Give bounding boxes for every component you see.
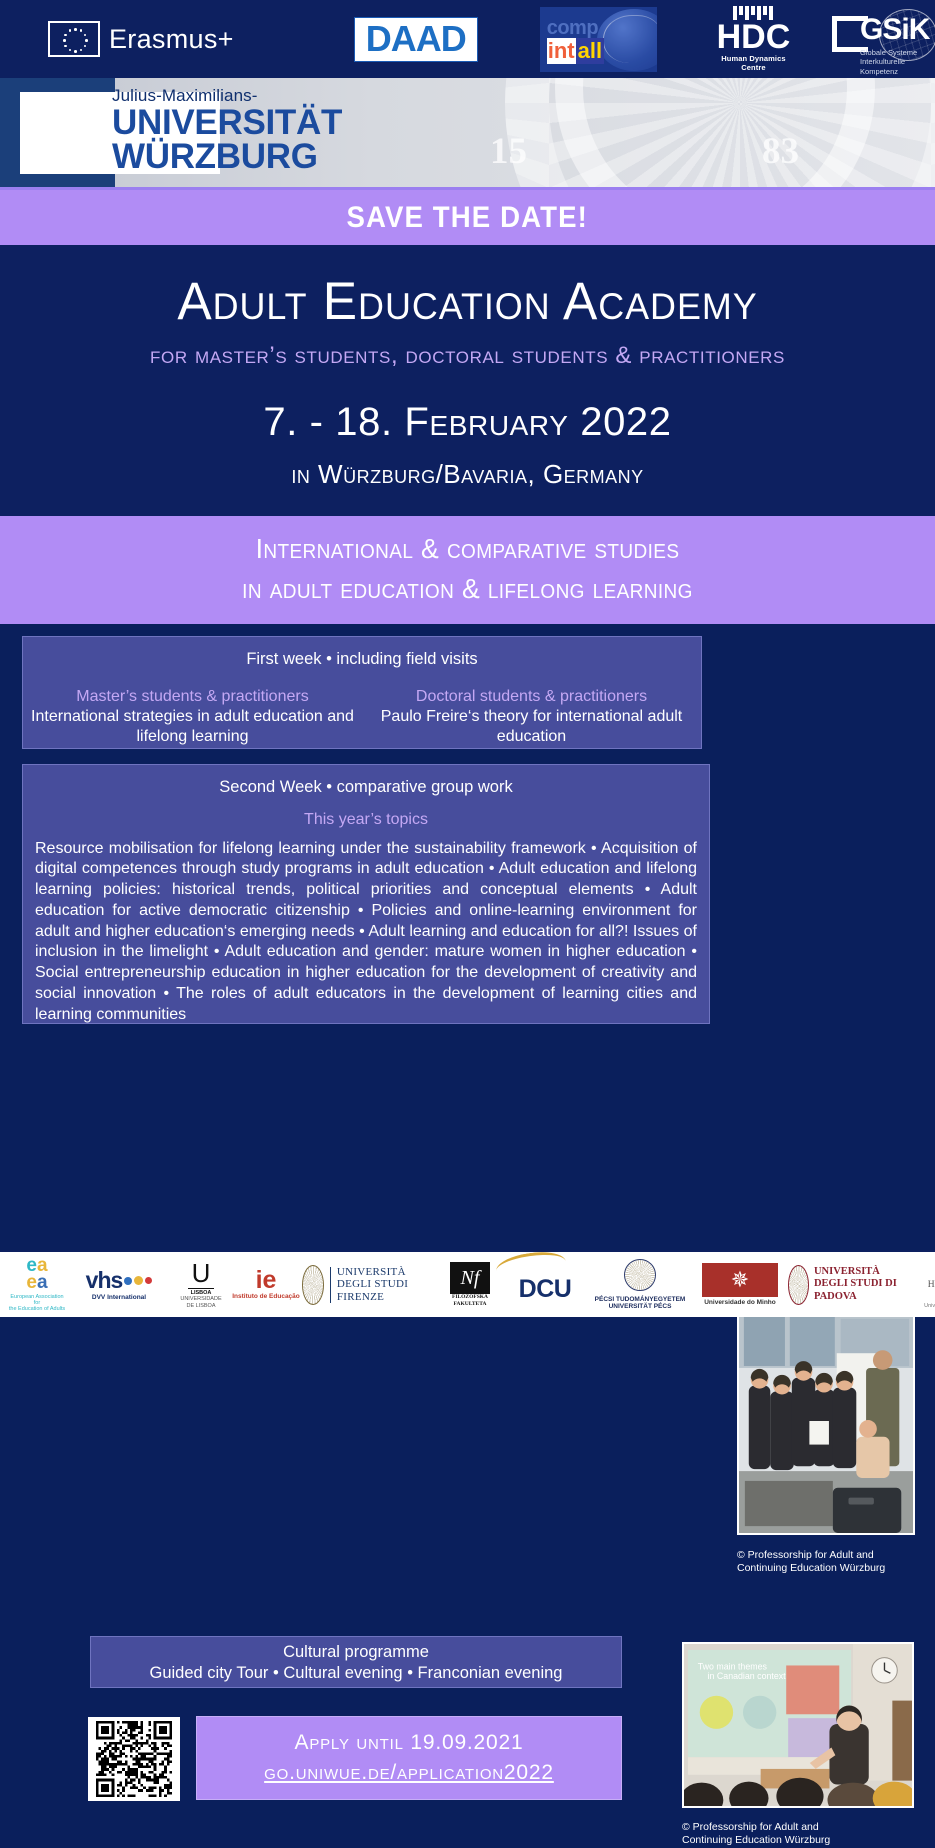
event-date: 7. - 18. February 2022 bbox=[0, 400, 935, 445]
qr-code[interactable] bbox=[88, 1717, 180, 1801]
caption1-line2: Continuing Education Würzburg bbox=[737, 1562, 927, 1576]
hdc-label: HDC bbox=[711, 21, 796, 53]
pecs-label: PÉCSI TUDOMÁNYEGYETEM UNIVERSITÄT PÉCS bbox=[588, 1296, 692, 1311]
universita-firenze-logo: UNIVERSITÀ DEGLI STUDI FIRENZE bbox=[302, 1265, 438, 1305]
partner-logo-footer: ea ea European Association forthe Educat… bbox=[0, 1250, 935, 1317]
university-logo-band: 15 83 Julius-Maximilians- UNIVERSITÄT WÜ… bbox=[0, 78, 935, 190]
universidade-do-minho-logo: ✵ Universidade do Minho bbox=[692, 1263, 788, 1306]
doctoral-topic: Paulo Freire‘s theory for international … bbox=[362, 707, 701, 747]
universidade-lisboa-logo: U LISBOA UNIVERSIDADEDE LISBOA bbox=[172, 1260, 230, 1308]
photo-group-workshop-caption: © Professorship for Adult and Continuing… bbox=[737, 1549, 927, 1576]
padova-label: UNIVERSITÀ DEGLI STUDI DI PADOVA bbox=[814, 1266, 912, 1304]
vhs-label: vhs bbox=[86, 1267, 123, 1294]
cultural-programme-panel: Cultural programme Guided city Tour • Cu… bbox=[90, 1636, 622, 1688]
gsik-subtitle-line1: Globale Systeme bbox=[860, 48, 935, 57]
hero-subtitle: for master’s students, doctoral students… bbox=[0, 342, 935, 370]
first-week-column-masters: Master’s students & practitioners Intern… bbox=[23, 687, 362, 747]
event-location: in Würzburg/Bavaria, Germany bbox=[0, 459, 935, 490]
daad-label: DAAD bbox=[366, 21, 466, 57]
svg-text:in Canadian context: in Canadian context bbox=[708, 1671, 787, 1681]
university-line1: UNIVERSITÄT bbox=[112, 106, 342, 140]
vhs-dvv-international-logo: vhs DVV International bbox=[66, 1267, 172, 1301]
masters-topic: International strategies in adult educat… bbox=[23, 707, 362, 747]
qr-code-image bbox=[92, 1721, 176, 1797]
dvv-international-label: DVV International bbox=[66, 1294, 172, 1301]
cultural-items: Guided city Tour • Cultural evening • Fr… bbox=[91, 1663, 621, 1684]
page-title: Adult Education Academy bbox=[14, 271, 921, 332]
caption1-line1: © Professorship for Adult and bbox=[737, 1549, 927, 1563]
university-seal-inner-ring bbox=[555, 78, 875, 190]
second-week-panel: Second Week • comparative group work Thi… bbox=[22, 764, 710, 1024]
caption2-line2: Continuing Education Würzburg bbox=[682, 1834, 922, 1848]
erasmus-plus-label: Erasmus+ bbox=[109, 24, 234, 55]
gsik-subtitle-line2: Interkulturelle Kompetenz bbox=[860, 57, 935, 76]
erasmus-plus-logo: Erasmus+ bbox=[48, 21, 234, 57]
caption2-line1: © Professorship for Adult and bbox=[682, 1821, 922, 1835]
gsik-label: GSiK bbox=[860, 13, 929, 47]
hero-section: Adult Education Academy for master’s stu… bbox=[0, 245, 935, 516]
masters-audience-label: Master’s students & practitioners bbox=[23, 687, 362, 707]
topics-subtitle: This year’s topics bbox=[33, 811, 699, 829]
lisboa-u-glyph: U bbox=[172, 1260, 230, 1286]
seal-year-left: 15 bbox=[490, 130, 527, 173]
helmut-schmidt-sub: Universität der Bundeswehr Hamburg bbox=[912, 1303, 935, 1309]
helmut-schmidt-label: HELMUT SCHMIDT UNIVERSITÄT bbox=[912, 1280, 935, 1303]
daad-logo: DAAD bbox=[354, 17, 478, 62]
eaea-logo: ea ea European Association forthe Educat… bbox=[8, 1257, 66, 1311]
topics-text: Resource mobilisation for lifelong learn… bbox=[33, 839, 699, 1026]
theme-line-1: International & comparative studies bbox=[23, 529, 911, 569]
globe-icon bbox=[597, 9, 657, 71]
second-week-title: Second Week • comparative group work bbox=[33, 772, 699, 799]
universita-di-padova-logo: UNIVERSITÀ DEGLI STUDI DI PADOVA bbox=[788, 1265, 912, 1305]
pecs-seal-icon bbox=[624, 1259, 656, 1291]
padova-seal-icon bbox=[788, 1265, 809, 1305]
svg-text:Two main themes: Two main themes bbox=[698, 1661, 768, 1671]
apply-deadline: Apply until 19.09.2021 bbox=[295, 1731, 524, 1755]
doctoral-audience-label: Doctoral students & practitioners bbox=[362, 687, 701, 707]
filozofska-label: FILOZOFSKA FAKULTETA bbox=[438, 1294, 502, 1306]
apply-panel[interactable]: Apply until 19.09.2021 go.uniwue.de/appl… bbox=[196, 1716, 622, 1800]
all-label: all bbox=[576, 38, 604, 64]
cultural-title: Cultural programme bbox=[91, 1642, 621, 1663]
instituto-label: Instituto de Educação bbox=[230, 1293, 302, 1300]
hdc-subtitle: Human Dynamics Centre bbox=[711, 54, 796, 72]
first-week-title: First week • including field visits bbox=[23, 644, 701, 671]
university-wordmark: Julius-Maximilians- UNIVERSITÄT WÜRZBURG bbox=[112, 86, 342, 173]
main-content: First week • including field visits Mast… bbox=[0, 624, 935, 636]
filozofska-fakulteta-logo: Nf FILOZOFSKA FAKULTETA bbox=[438, 1262, 502, 1306]
dcu-logo: DCU bbox=[502, 1265, 588, 1304]
int-label: int bbox=[547, 38, 576, 64]
first-week-column-doctoral: Doctoral students & practitioners Paulo … bbox=[362, 687, 701, 747]
theme-banner: International & comparative studies in a… bbox=[0, 516, 935, 624]
firenze-seal-icon bbox=[302, 1265, 324, 1305]
ie-glyph: ie bbox=[230, 1268, 302, 1293]
photo-lecture-presentation: Two main themesin Canadian context bbox=[682, 1642, 914, 1808]
hdc-logo: HDC Human Dynamics Centre bbox=[711, 6, 796, 72]
instituto-de-educacao-logo: ie Instituto de Educação bbox=[230, 1268, 302, 1300]
comp-intall-logo: comp int all bbox=[540, 7, 657, 72]
sponsor-logo-bar: Erasmus+ DAAD comp int all HDC Human Dyn… bbox=[0, 0, 935, 78]
pecsi-tudomanyegyetem-logo: PÉCSI TUDOMÁNYEGYETEM UNIVERSITÄT PÉCS bbox=[588, 1259, 692, 1311]
university-line2: WÜRZBURG bbox=[112, 140, 342, 174]
seal-year-right: 83 bbox=[762, 130, 799, 173]
helmut-schmidt-universitat-logo: HELMUT SCHMIDT UNIVERSITÄT Universität d… bbox=[912, 1260, 935, 1309]
photo-lecture-presentation-caption: © Professorship for Adult and Continuing… bbox=[682, 1821, 922, 1848]
first-week-panel: First week • including field visits Mast… bbox=[22, 636, 702, 749]
gsik-logo: GSiK Globale Systeme Interkulturelle Kom… bbox=[830, 8, 935, 70]
save-the-date-banner: SAVE THE DATE! bbox=[0, 190, 935, 245]
theme-line-2: in adult education & lifelong learning bbox=[23, 569, 911, 609]
comp-label: comp bbox=[547, 17, 598, 40]
photo-group-workshop bbox=[737, 1307, 915, 1535]
minho-label: Universidade do Minho bbox=[692, 1299, 788, 1306]
application-link[interactable]: go.uniwue.de/application2022 bbox=[264, 1761, 554, 1785]
eu-flag-icon bbox=[48, 21, 100, 57]
save-the-date-label: SAVE THE DATE! bbox=[347, 201, 588, 235]
firenze-label: UNIVERSITÀ DEGLI STUDI FIRENZE bbox=[337, 1266, 438, 1304]
